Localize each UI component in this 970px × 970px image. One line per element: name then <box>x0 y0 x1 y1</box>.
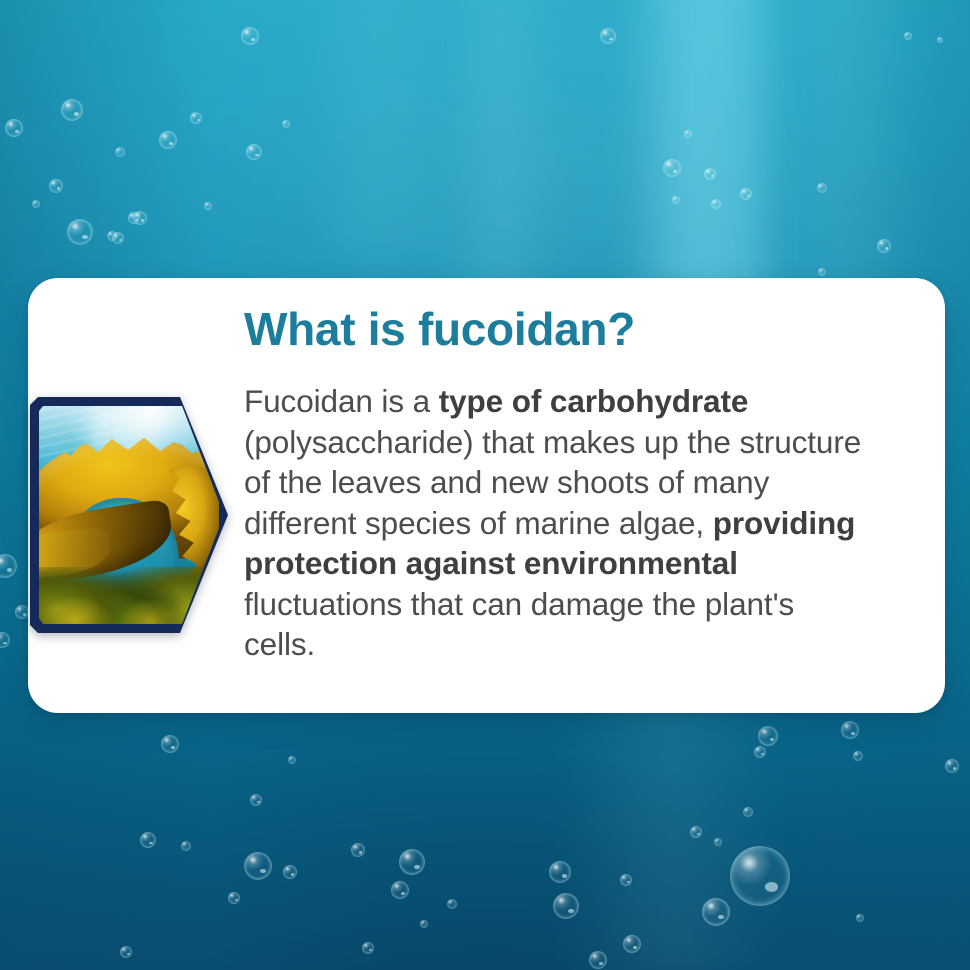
badge-photo-frame <box>39 406 219 624</box>
kelp-seaweed-photo <box>39 406 219 624</box>
body-run: Fucoidan is a <box>244 383 439 419</box>
kelp-image-badge <box>30 397 228 633</box>
body-run: fluctuations that can damage the plant's… <box>244 586 794 663</box>
card-body-text: Fucoidan is a type of carbohydrate (poly… <box>244 381 864 665</box>
seabed-reef-highlights <box>39 589 219 624</box>
page-title: What is fucoidan? <box>244 302 635 356</box>
body-emphasis: type of carbohydrate <box>439 383 749 419</box>
